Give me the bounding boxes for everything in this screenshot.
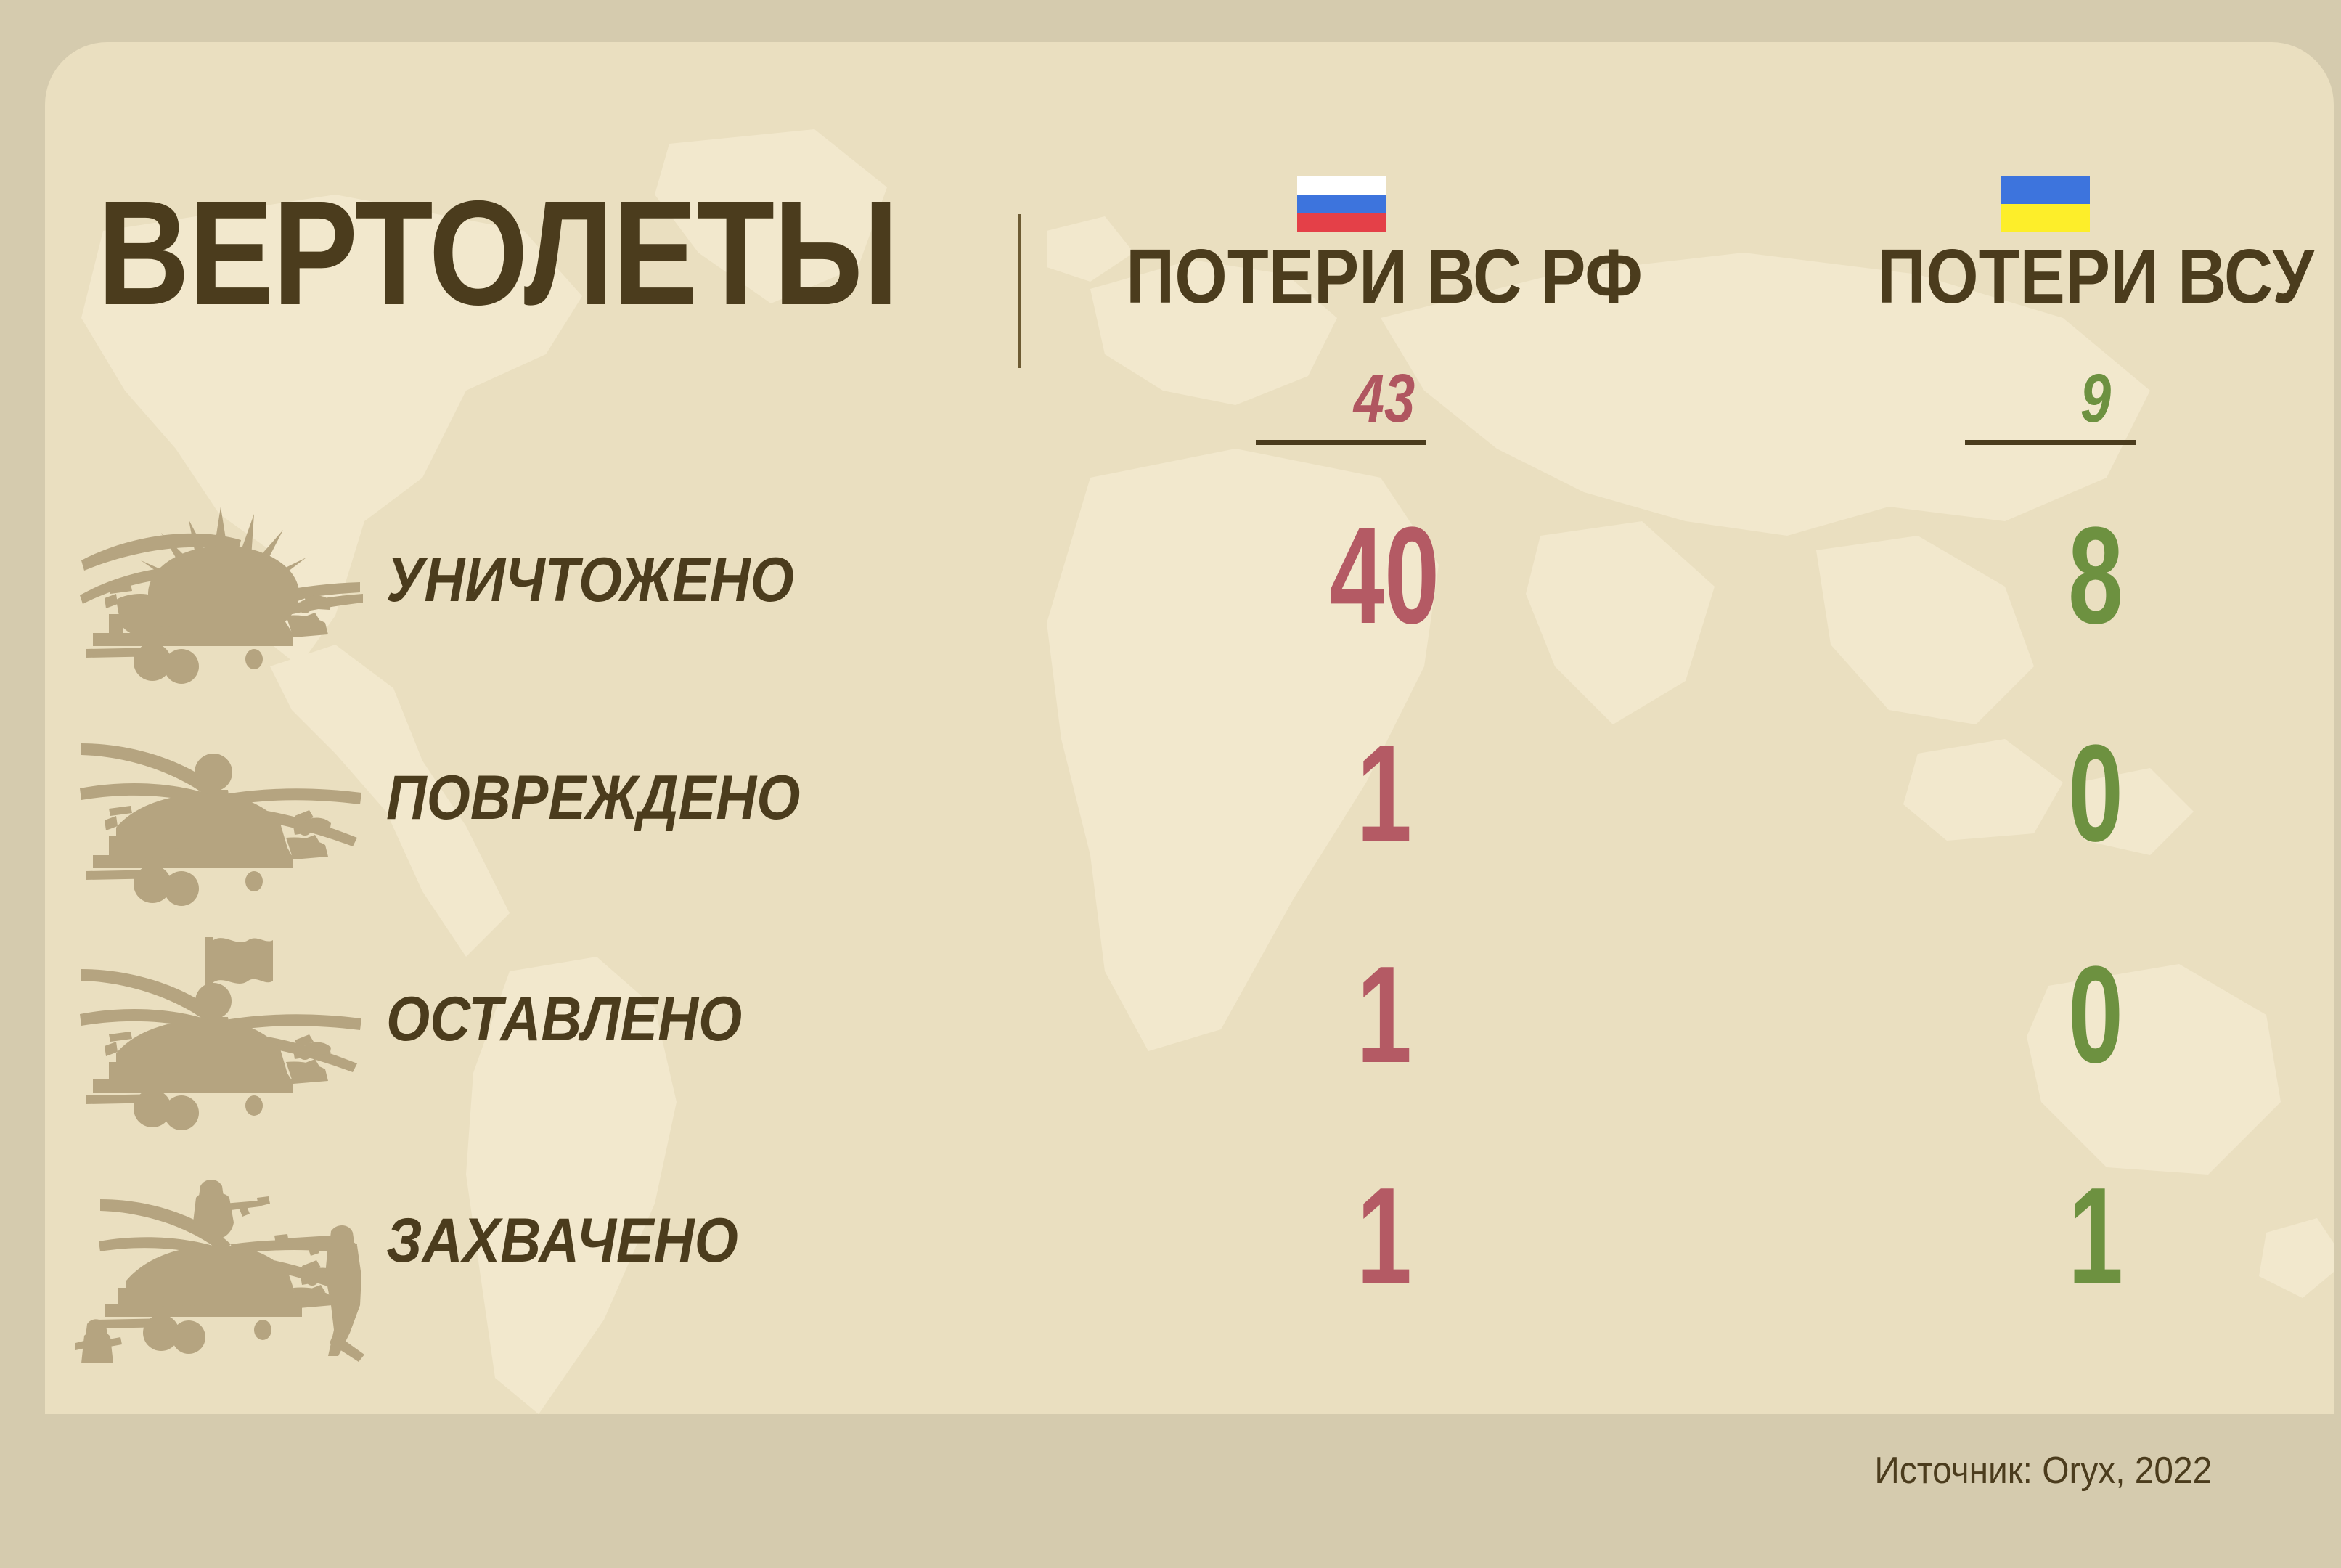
- column-header-ukraine: ПОТЕРИ ВСУ: [1767, 238, 2334, 315]
- table-row: ПОВРЕЖДЕНО 1 0: [45, 703, 2334, 920]
- table-row: ОСТАВЛЕНО 1 0: [45, 924, 2334, 1142]
- column-header-russia: ПОТЕРИ ВС РФ: [1055, 238, 1713, 315]
- value-russia: 1: [1115, 1167, 1654, 1305]
- value-ukraine: 8: [1826, 507, 2334, 645]
- helicopter-damaged-icon: [75, 703, 366, 920]
- value-russia: 1: [1115, 946, 1654, 1084]
- source-attribution: Источник: Oryx, 2022: [1874, 1452, 2212, 1490]
- helicopter-destroyed-icon: [75, 485, 366, 703]
- total-russia: 43: [1085, 364, 1683, 433]
- page-title: ВЕРТОЛЕТЫ: [97, 179, 897, 327]
- table-row: УНИЧТОЖЕНО 40 8: [45, 485, 2334, 703]
- table-row: ЗАХВАЧЕНО 1 1: [45, 1146, 2334, 1363]
- row-label: ПОВРЕЖДЕНО: [386, 767, 800, 829]
- total-rule-russia: [1256, 440, 1426, 445]
- total-ukraine: 9: [1797, 364, 2334, 433]
- value-ukraine: 0: [1826, 724, 2334, 862]
- content-card: ВЕРТОЛЕТЫ ПОТЕРИ ВС РФ ПОТЕРИ ВСУ 43 9: [45, 42, 2334, 1414]
- row-label: ОСТАВЛЕНО: [386, 988, 742, 1050]
- helicopter-captured-icon: [75, 1146, 366, 1363]
- value-ukraine: 1: [1826, 1167, 2334, 1305]
- row-label: УНИЧТОЖЕНО: [386, 549, 794, 611]
- russia-flag-icon: [1297, 176, 1386, 232]
- title-divider: [1018, 214, 1021, 368]
- value-russia: 1: [1115, 724, 1654, 862]
- value-russia: 40: [1115, 507, 1654, 645]
- row-label: ЗАХВАЧЕНО: [386, 1209, 738, 1272]
- value-ukraine: 0: [1826, 946, 2334, 1084]
- helicopter-abandoned-icon: [75, 924, 366, 1142]
- ukraine-flag-icon: [2001, 176, 2090, 232]
- total-rule-ukraine: [1965, 440, 2136, 445]
- infographic-page: ВЕРТОЛЕТЫ ПОТЕРИ ВС РФ ПОТЕРИ ВСУ 43 9: [0, 0, 2341, 1568]
